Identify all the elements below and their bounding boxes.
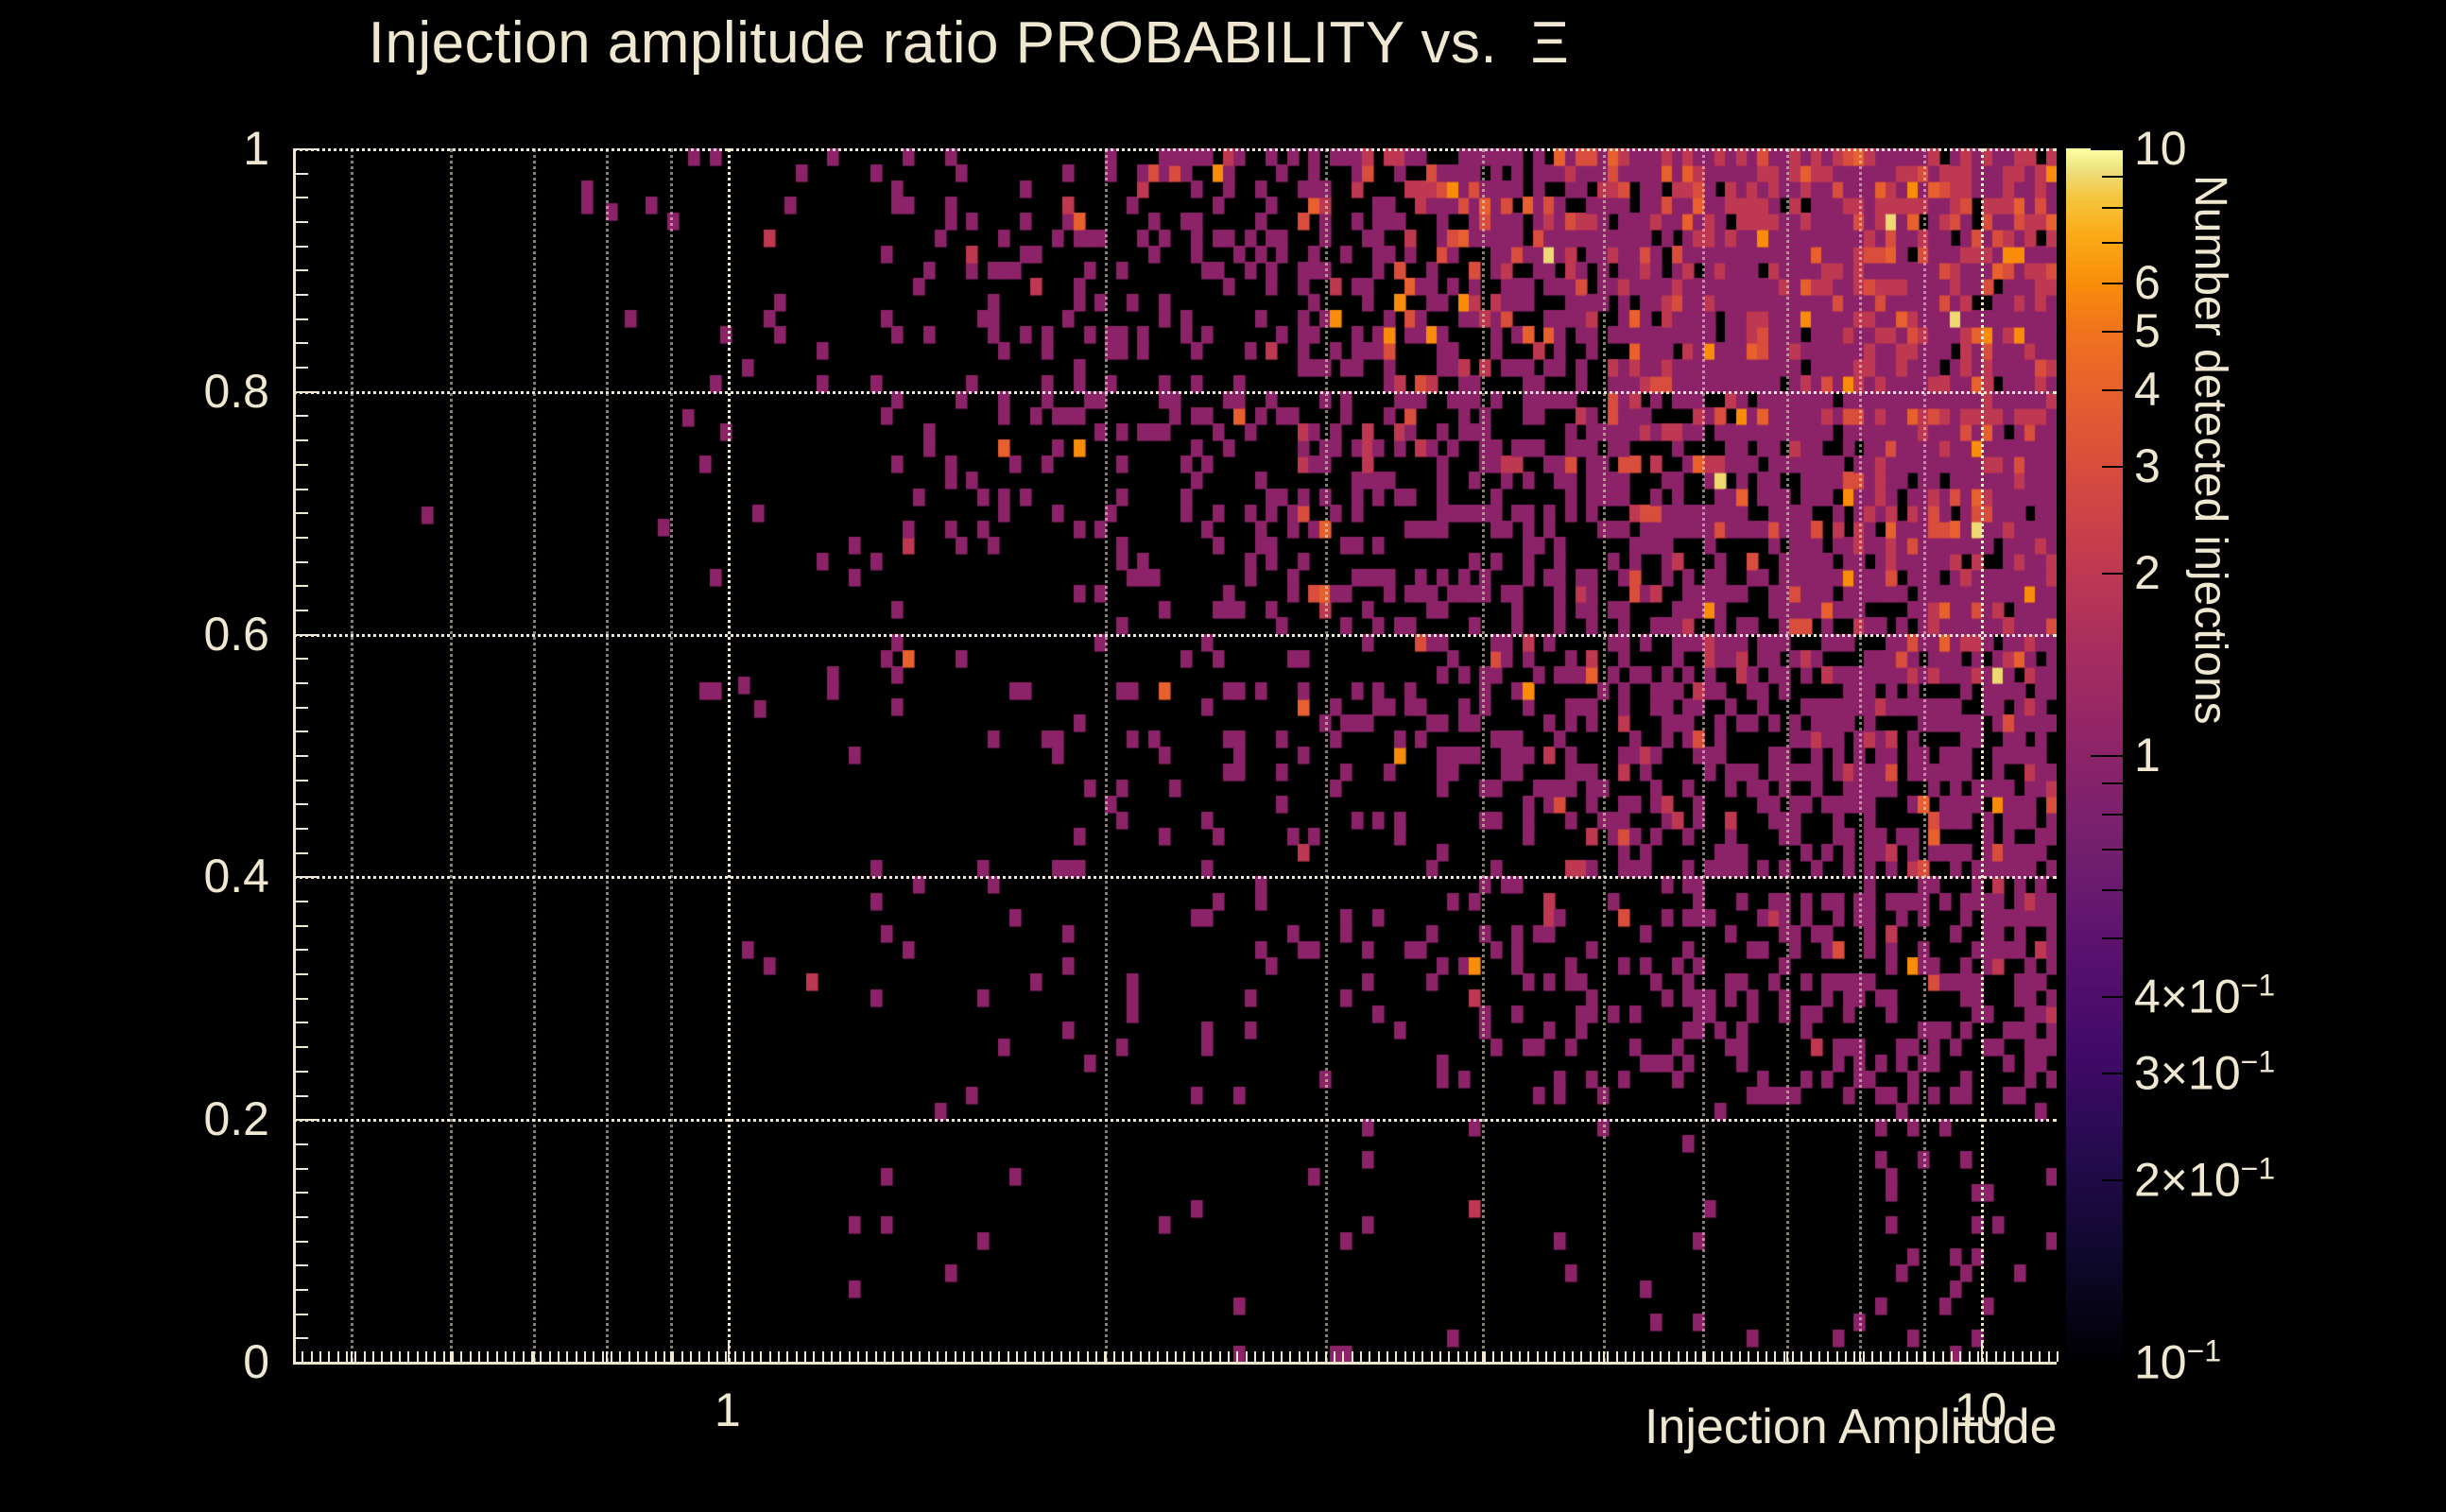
x-tick-minor (1889, 1351, 1891, 1362)
x-tick-minor (452, 1351, 454, 1362)
x-tick-minor (1859, 1351, 1861, 1362)
gridline-vertical-minor (533, 148, 536, 1362)
y-tick-label: 0.2 (24, 1091, 269, 1146)
x-tick-minor (1818, 1351, 1820, 1362)
x-axis-line (293, 1362, 2057, 1365)
x-tick-minor (760, 1351, 762, 1362)
x-tick-minor (1263, 1351, 1265, 1362)
x-tick-minor (1130, 1351, 1132, 1362)
y-tick-major (293, 391, 318, 393)
x-tick-minor (505, 1351, 507, 1362)
x-tick-minor (1880, 1351, 1882, 1362)
x-tick-minor (1157, 1351, 1159, 1362)
x-tick-minor (672, 1351, 674, 1362)
x-tick-minor (1474, 1351, 1476, 1362)
x-tick-minor (1786, 1351, 1788, 1362)
x-tick-minor (1853, 1351, 1855, 1362)
x-tick-minor (1603, 1351, 1605, 1362)
x-tick-minor (1757, 1351, 1759, 1362)
gridline-vertical-minor (1923, 148, 1926, 1362)
x-tick-minor (2030, 1351, 2032, 1362)
y-tick-label: 0 (24, 1334, 269, 1389)
x-tick-minor (1360, 1351, 1362, 1362)
x-tick-minor (734, 1351, 736, 1362)
colorbar-tick (2102, 207, 2123, 209)
x-tick-minor (1299, 1351, 1301, 1362)
x-tick-minor (1060, 1351, 1062, 1362)
x-tick-minor (1898, 1351, 1900, 1362)
gridline-vertical-minor (1702, 148, 1705, 1362)
x-tick-minor (1545, 1351, 1547, 1362)
x-tick-minor (1219, 1351, 1221, 1362)
colorbar-tick (2102, 996, 2123, 998)
gridline-horizontal (293, 391, 2057, 394)
x-tick-minor (902, 1351, 904, 1362)
x-tick-minor (708, 1351, 710, 1362)
x-tick-minor (407, 1351, 409, 1362)
x-tick-minor (1201, 1351, 1203, 1362)
x-tick-minor (1034, 1351, 1036, 1362)
x-tick-minor (1369, 1351, 1370, 1362)
x-tick-minor (725, 1351, 727, 1362)
x-tick-minor (1633, 1351, 1635, 1362)
x-tick-minor (1431, 1351, 1433, 1362)
x-tick-minor (549, 1351, 551, 1362)
x-tick-minor (1148, 1351, 1150, 1362)
x-tick-minor (1387, 1351, 1388, 1362)
x-tick-minor (663, 1351, 665, 1362)
x-tick-minor (1933, 1351, 1935, 1362)
colorbar-tick (2091, 755, 2123, 757)
gridline-vertical-minor (1859, 148, 1862, 1362)
x-tick-minor (417, 1351, 419, 1362)
x-tick-minor (1378, 1351, 1380, 1362)
colorbar-tick (2102, 573, 2123, 575)
x-tick-minor (2057, 1351, 2058, 1362)
x-tick-minor (1228, 1351, 1230, 1362)
x-tick-minor (496, 1351, 498, 1362)
colorbar-tick-label: 4 (2134, 362, 2161, 417)
x-tick-minor (1678, 1351, 1679, 1362)
x-tick-minor (1510, 1351, 1512, 1362)
x-tick-minor (1016, 1351, 1018, 1362)
gridline-horizontal (293, 634, 2057, 637)
x-tick-minor (813, 1351, 815, 1362)
x-tick-minor (786, 1351, 788, 1362)
x-tick-minor (513, 1351, 515, 1362)
x-tick-minor (1395, 1351, 1397, 1362)
x-tick-minor (1607, 1351, 1609, 1362)
x-tick-minor (955, 1351, 956, 1362)
x-tick-minor (919, 1351, 921, 1362)
x-tick-minor (523, 1351, 525, 1362)
x-tick-minor (1069, 1351, 1071, 1362)
colorbar-tick (2102, 283, 2123, 284)
heatmap-canvas (293, 148, 2057, 1362)
colorbar-tick-label: 10 (2134, 121, 2187, 176)
colorbar-tick (2102, 242, 2123, 244)
gridline-horizontal (293, 876, 2057, 879)
x-tick-minor (1087, 1351, 1089, 1362)
gridline-vertical-minor (1603, 148, 1606, 1362)
x-tick-minor (351, 1351, 353, 1362)
x-tick-minor (646, 1351, 647, 1362)
colorbar (2066, 148, 2123, 1362)
colorbar-tick-exponent: −1 (2241, 1151, 2275, 1185)
x-tick-minor (311, 1351, 313, 1362)
x-tick-minor (1836, 1351, 1838, 1362)
x-tick-minor (1122, 1351, 1124, 1362)
x-tick-minor (831, 1351, 833, 1362)
x-tick-minor (364, 1351, 366, 1362)
gridline-horizontal (293, 1119, 2057, 1122)
x-tick-minor (1404, 1351, 1406, 1362)
colorbar-tick-exponent: −1 (2241, 969, 2275, 1003)
y-tick-major (293, 1119, 318, 1121)
x-tick-minor (460, 1351, 462, 1362)
gridline-vertical-minor (1786, 148, 1789, 1362)
x-tick-minor (928, 1351, 930, 1362)
gridline-vertical-minor (1482, 148, 1485, 1362)
x-tick-minor (937, 1351, 939, 1362)
x-tick-minor (866, 1351, 868, 1362)
x-tick-minor (1845, 1351, 1847, 1362)
x-tick-minor (1668, 1351, 1670, 1362)
x-tick-minor (1008, 1351, 1009, 1362)
x-tick-minor (1942, 1351, 1944, 1362)
colorbar-tick (2102, 814, 2123, 816)
x-tick-minor (1352, 1351, 1353, 1362)
x-tick-minor (1871, 1351, 1873, 1362)
x-tick-minor (2012, 1351, 2014, 1362)
x-tick-minor (1492, 1351, 1494, 1362)
x-tick-minor (1466, 1351, 1468, 1362)
x-tick-minor (1951, 1351, 1953, 1362)
x-tick-minor (1281, 1351, 1283, 1362)
x-tick-minor (1439, 1351, 1441, 1362)
x-tick-minor (1959, 1351, 1961, 1362)
gridline-vertical-minor (1325, 148, 1328, 1362)
x-tick-minor (1554, 1351, 1556, 1362)
colorbar-title: Number detected injections (2184, 175, 2236, 1025)
colorbar-tick-label: 10−1 (2134, 1334, 2221, 1390)
x-tick-minor (875, 1351, 877, 1362)
x-tick-minor (1519, 1351, 1521, 1362)
x-tick-minor (531, 1351, 533, 1362)
x-tick-minor (399, 1351, 401, 1362)
colorbar-tick-mantissa: 2×10 (2134, 1153, 2241, 1206)
x-tick-minor (655, 1351, 657, 1362)
x-tick-minor (1140, 1351, 1142, 1362)
colorbar-tick (2102, 937, 2123, 939)
x-tick-minor (892, 1351, 894, 1362)
x-tick-minor (328, 1351, 330, 1362)
x-tick-minor (478, 1351, 480, 1362)
colorbar-tick-exponent: −1 (2187, 1334, 2221, 1368)
x-tick-minor (1413, 1351, 1415, 1362)
x-tick-minor (381, 1351, 383, 1362)
y-tick-label: 1 (24, 121, 269, 176)
x-tick-minor (1748, 1351, 1749, 1362)
x-tick-minor (1077, 1351, 1079, 1362)
x-tick-minor (1307, 1351, 1309, 1362)
y-tick-major (293, 876, 318, 878)
x-tick-minor (1166, 1351, 1168, 1362)
chart-title: Injection amplitude ratio PROBABILITY vs… (0, 9, 1938, 77)
x-tick-minor (1246, 1351, 1248, 1362)
x-tick-minor (1421, 1351, 1423, 1362)
x-tick-minor (1272, 1351, 1274, 1362)
gridline-vertical-minor (450, 148, 453, 1362)
x-axis-title: Injection Amplitude (1645, 1399, 2058, 1455)
x-tick-minor (1325, 1351, 1327, 1362)
x-tick-minor (425, 1351, 427, 1362)
x-tick-minor (1025, 1351, 1026, 1362)
gridline-vertical-minor (351, 148, 353, 1362)
x-tick-minor (558, 1351, 560, 1362)
x-tick-minor (1598, 1351, 1600, 1362)
x-tick-minor (434, 1351, 436, 1362)
x-tick-minor (637, 1351, 639, 1362)
x-tick-minor (743, 1351, 745, 1362)
y-tick-label: 0.4 (24, 849, 269, 903)
gridline-horizontal (293, 148, 2057, 151)
x-tick-minor (337, 1351, 339, 1362)
y-tick-label: 0.6 (24, 607, 269, 661)
x-tick-minor (990, 1351, 991, 1362)
y-tick-major (293, 148, 318, 150)
x-tick-minor (1193, 1351, 1195, 1362)
x-tick-minor (1800, 1351, 1802, 1362)
x-tick-minor (1906, 1351, 1908, 1362)
x-tick-minor (1660, 1351, 1662, 1362)
x-tick-minor (629, 1351, 630, 1362)
x-tick-minor (372, 1351, 374, 1362)
x-tick-minor (981, 1351, 983, 1362)
x-tick-minor (1457, 1351, 1459, 1362)
x-tick-minor (1051, 1351, 1053, 1362)
x-tick-minor (1704, 1351, 1706, 1362)
y-tick-label: 0.8 (24, 364, 269, 419)
colorbar-tick (2091, 1362, 2123, 1364)
colorbar-tick-mantissa: 3×10 (2134, 1046, 2241, 1099)
colorbar-tick-label: 5 (2134, 303, 2161, 358)
gridline-vertical (728, 148, 731, 1362)
x-tick-minor (470, 1351, 472, 1362)
x-tick-minor (1986, 1351, 1988, 1362)
gridline-vertical-minor (1981, 148, 1984, 1362)
x-tick-minor (319, 1351, 321, 1362)
x-tick-minor (1863, 1351, 1865, 1362)
x-tick-minor (1104, 1351, 1106, 1362)
y-axis-line (293, 148, 296, 1362)
x-tick-minor (1175, 1351, 1177, 1362)
colorbar-tick (2102, 331, 2123, 333)
x-tick-minor (1792, 1351, 1794, 1362)
x-tick-minor (2048, 1351, 2050, 1362)
x-tick-minor (1721, 1351, 1723, 1362)
x-tick-minor (2039, 1351, 2041, 1362)
colorbar-tick (2102, 889, 2123, 891)
x-tick-minor (2004, 1351, 2006, 1362)
colorbar-tick (2102, 466, 2123, 468)
x-tick-minor (1095, 1351, 1097, 1362)
x-tick-minor (611, 1351, 612, 1362)
colorbar-tick-label: 2 (2134, 545, 2161, 600)
x-tick-minor (487, 1351, 489, 1362)
colorbar-tick (2102, 1179, 2123, 1181)
x-tick-minor (1766, 1351, 1767, 1362)
gridline-vertical-minor (606, 148, 609, 1362)
x-tick-minor (390, 1351, 392, 1362)
colorbar-tick-label: 3 (2134, 438, 2161, 493)
x-tick-minor (1810, 1351, 1812, 1362)
colorbar-tick-label: 1 (2134, 728, 2161, 782)
x-tick-minor (1448, 1351, 1450, 1362)
x-tick-minor (1537, 1351, 1539, 1362)
x-tick-minor (945, 1351, 947, 1362)
x-tick-minor (751, 1351, 753, 1362)
x-tick-minor (443, 1351, 445, 1362)
x-tick-major (1981, 1341, 1983, 1362)
x-tick-minor (1731, 1351, 1732, 1362)
x-tick-minor (1625, 1351, 1627, 1362)
x-tick-minor (716, 1351, 718, 1362)
x-tick-minor (796, 1351, 798, 1362)
x-tick-minor (619, 1351, 621, 1362)
colorbar-tick (2091, 148, 2123, 150)
x-tick-minor (1334, 1351, 1335, 1362)
x-tick-minor (681, 1351, 683, 1362)
x-tick-minor (857, 1351, 859, 1362)
x-tick-minor (769, 1351, 771, 1362)
x-tick-minor (884, 1351, 886, 1362)
x-tick-minor (533, 1351, 535, 1362)
x-tick-minor (1042, 1351, 1044, 1362)
x-tick-minor (778, 1351, 780, 1362)
x-tick-minor (1739, 1351, 1741, 1362)
x-tick-minor (698, 1351, 700, 1362)
y-tick-major (293, 634, 318, 636)
x-tick-minor (1527, 1351, 1529, 1362)
x-tick-minor (1580, 1351, 1582, 1362)
colorbar-tick-label: 6 (2134, 255, 2161, 310)
x-tick-minor (849, 1351, 851, 1362)
x-tick-minor (540, 1351, 542, 1362)
x-tick-major (728, 1341, 730, 1362)
x-tick-minor (602, 1351, 604, 1362)
x-tick-minor (972, 1351, 973, 1362)
x-tick-minor (910, 1351, 912, 1362)
x-tick-minor (822, 1351, 824, 1362)
colorbar-tick-label: 2×10−1 (2134, 1151, 2275, 1207)
x-tick-minor (2022, 1351, 2024, 1362)
x-tick-minor (1342, 1351, 1344, 1362)
x-tick-minor (1210, 1351, 1212, 1362)
chart-root: Injection amplitude ratio PROBABILITY vs… (0, 0, 2446, 1512)
x-tick-label: 1 (715, 1383, 741, 1437)
x-tick-minor (1695, 1351, 1697, 1362)
x-tick-minor (1113, 1351, 1115, 1362)
x-tick-minor (1783, 1351, 1785, 1362)
x-tick-minor (690, 1351, 692, 1362)
x-tick-minor (566, 1351, 568, 1362)
x-tick-minor (1572, 1351, 1574, 1362)
x-tick-minor (576, 1351, 577, 1362)
x-tick-minor (1642, 1351, 1644, 1362)
x-tick-minor (1924, 1351, 1926, 1362)
x-tick-minor (1501, 1351, 1503, 1362)
x-tick-minor (1969, 1351, 1971, 1362)
x-tick-minor (1254, 1351, 1256, 1362)
x-tick-minor (1995, 1351, 1997, 1362)
x-tick-minor (1183, 1351, 1185, 1362)
x-tick-minor (1977, 1351, 1979, 1362)
colorbar-tick-mantissa: 10 (2134, 1335, 2187, 1388)
x-tick-minor (301, 1351, 303, 1362)
x-tick-minor (1316, 1351, 1318, 1362)
colorbar-tick-label: 3×10−1 (2134, 1044, 2275, 1100)
colorbar-tick (2102, 1073, 2123, 1074)
x-tick-minor (1289, 1351, 1291, 1362)
x-tick-minor (963, 1351, 965, 1362)
x-tick-minor (1713, 1351, 1714, 1362)
colorbar-tick (2102, 389, 2123, 391)
x-tick-minor (1236, 1351, 1238, 1362)
x-tick-minor (1616, 1351, 1618, 1362)
x-tick-minor (998, 1351, 1000, 1362)
x-tick-minor (1484, 1351, 1486, 1362)
colorbar-tick (2102, 176, 2123, 178)
x-tick-minor (354, 1351, 356, 1362)
x-tick-minor (1827, 1351, 1829, 1362)
x-tick-minor (1774, 1351, 1776, 1362)
x-tick-minor (1563, 1351, 1565, 1362)
colorbar-tick (2102, 849, 2123, 850)
x-tick-minor (1916, 1351, 1918, 1362)
gridline-vertical-minor (670, 148, 673, 1362)
x-tick-minor (839, 1351, 841, 1362)
x-tick-minor (593, 1351, 594, 1362)
x-tick-minor (584, 1351, 586, 1362)
plot-area (293, 148, 2057, 1362)
x-tick-minor (606, 1351, 608, 1362)
x-tick-minor (1651, 1351, 1653, 1362)
x-tick-minor (1590, 1351, 1592, 1362)
colorbar-tick (2102, 782, 2123, 784)
x-tick-minor (1686, 1351, 1688, 1362)
x-tick-minor (804, 1351, 806, 1362)
colorbar-tick-exponent: −1 (2241, 1044, 2275, 1078)
gridline-vertical-minor (1105, 148, 1108, 1362)
x-tick-minor (346, 1351, 348, 1362)
